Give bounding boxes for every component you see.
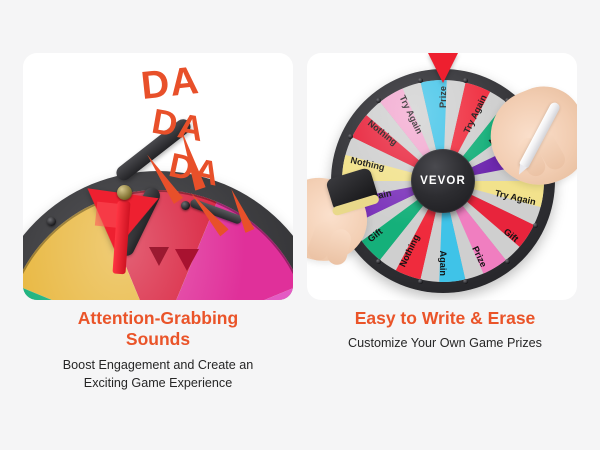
prize-wheel-peg xyxy=(348,134,353,139)
prize-wheel-peg xyxy=(418,78,423,83)
caption-left: Attention-Grabbing Sounds Boost Engageme… xyxy=(10,308,306,392)
wheel-marker-triangle xyxy=(175,249,199,271)
wheel-pointer-icon xyxy=(428,53,458,83)
promo-banner: DA DA DA PrizeTry AgainNothingGiftTry Ag… xyxy=(0,0,600,450)
feature-card-left: DA DA DA xyxy=(23,53,293,300)
caption-left-subtitle-line1: Boost Engagement and Create an xyxy=(10,357,306,375)
caption-left-title-line2: Sounds xyxy=(10,329,306,350)
caption-left-subtitle-line2: Exciting Game Experience xyxy=(10,375,306,393)
product-photo-sounds: DA DA DA xyxy=(23,53,293,300)
prize-wheel-peg xyxy=(418,279,423,284)
wheel-hub: VEVOR xyxy=(411,149,475,213)
wheel-peg xyxy=(181,201,190,210)
sound-text-da-2: DA xyxy=(149,104,207,148)
brand-logo-text: VEVOR xyxy=(420,175,466,187)
caption-left-title: Attention-Grabbing Sounds xyxy=(10,308,306,351)
prize-wheel-peg xyxy=(505,259,510,264)
wheel-marker-triangle xyxy=(149,247,169,266)
sound-text-da-1: DA xyxy=(139,61,201,106)
caption-right-subtitle-line1: Customize Your Own Game Prizes xyxy=(300,335,590,353)
product-photo-write-erase: PrizeTry AgainNothingGiftTry AgainGiftPr… xyxy=(307,53,577,300)
caption-left-subtitle: Boost Engagement and Create an Exciting … xyxy=(10,357,306,393)
flapper-pivot-screw xyxy=(117,185,132,200)
caption-right: Easy to Write & Erase Customize Your Own… xyxy=(300,308,590,353)
wheel-peg xyxy=(47,217,56,226)
sound-text-da-3: DA xyxy=(166,148,223,192)
feature-card-right: PrizeTry AgainNothingGiftTry AgainGiftPr… xyxy=(307,53,577,300)
caption-right-subtitle: Customize Your Own Game Prizes xyxy=(300,335,590,353)
caption-right-title: Easy to Write & Erase xyxy=(300,308,590,329)
caption-left-title-line1: Attention-Grabbing xyxy=(10,308,306,329)
